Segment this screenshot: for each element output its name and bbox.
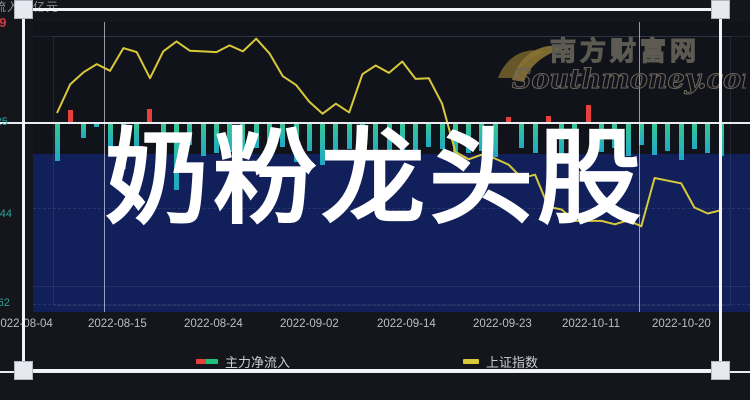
screenshot-root: 流入：亿元 39 0 -25 -644 -62 2022-08-04 2022-… (0, 0, 750, 400)
x-tick-4: 2022-09-14 (377, 318, 436, 330)
x-tick-1: 2022-08-15 (88, 318, 147, 330)
legend-label-main-net-inflow: 主力净流入 (225, 352, 290, 371)
x-tick-3: 2022-09-02 (280, 318, 339, 330)
page-title: 奶粉龙头股 (0, 126, 750, 230)
x-tick-7: 2022-10-20 (652, 318, 711, 330)
x-tick-6: 2022-10-11 (562, 318, 620, 330)
legend-swatch-index-icon (463, 359, 479, 364)
selection-edge-top (22, 8, 722, 11)
bottom-rule (0, 371, 750, 373)
selection-handle-top-right[interactable] (711, 0, 730, 19)
chart-legend: 主力净流入 上证指数 (0, 352, 750, 380)
unit-label: 流入：亿元 (0, 0, 59, 15)
legend-item-main-net-inflow[interactable]: 主力净流入 (196, 352, 290, 371)
legend-item-sse-index[interactable]: 上证指数 (463, 352, 538, 371)
legend-swatch-inflow-icon (196, 359, 218, 364)
y-axis-label-neg62: -62 (0, 297, 10, 309)
legend-label-sse-index: 上证指数 (486, 352, 538, 371)
top-axis-value: 39 (0, 15, 6, 30)
x-tick-0: 2022-08-04 (0, 318, 53, 330)
x-tick-5: 2022-09-23 (473, 318, 532, 330)
x-tick-2: 2022-08-24 (184, 318, 243, 330)
